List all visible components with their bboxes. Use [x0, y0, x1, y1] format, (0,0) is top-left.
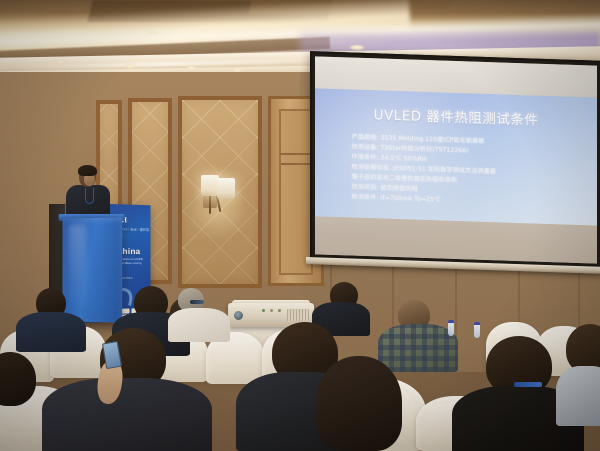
sconce-shade-right: [217, 178, 235, 199]
door-rail: [281, 153, 311, 155]
downlight-icon: [186, 66, 197, 70]
conference-room-photo: UVLED 器件热阻测试条件 产品规格: 3535 Molding 120度IC…: [0, 0, 600, 451]
projection-screen: UVLED 器件热阻测试条件 产品规格: 3535 Molding 120度IC…: [310, 51, 600, 271]
attendee-shoulders-white: [168, 308, 230, 342]
presentation-slide: UVLED 器件热阻测试条件 产品规格: 3535 Molding 120度IC…: [315, 88, 597, 226]
projector-indicator-led: [278, 309, 281, 312]
water-bottle[interactable]: [448, 320, 454, 336]
attendee-head-long-hair: [316, 356, 402, 451]
downlight-icon: [125, 64, 136, 68]
door-rail: [281, 163, 311, 165]
water-bottle[interactable]: [474, 322, 480, 338]
radtech-logo-tagline: 2019 / 亚洲 / 辐射固化: [120, 226, 151, 236]
projector-vent: [287, 309, 309, 321]
downlight-icon: [350, 45, 364, 50]
slide-body: 产品规格: 3535 Molding 120度ICP氮化铝基板 检测设备: T3…: [352, 133, 580, 210]
glasses-icon: [190, 300, 204, 304]
downlight-icon: [55, 60, 66, 64]
attendee-shoulders: [16, 312, 86, 352]
attendee-lanyard: [514, 382, 542, 387]
podium-highlight: [68, 224, 86, 314]
downlight-icon: [148, 31, 157, 34]
speaker-lanyard: [85, 188, 94, 204]
screen-surface: UVLED 器件热阻测试条件 产品规格: 3535 Molding 120度IC…: [315, 56, 597, 263]
door-panel: [279, 109, 313, 275]
projector-power-button[interactable]: [262, 309, 265, 312]
podium: [63, 217, 123, 322]
attendee-shoulders-plaid: [378, 324, 458, 372]
screen-bottom-margin: [315, 217, 597, 264]
attendee-shoulders-front: [42, 378, 212, 451]
projector-indicator-led: [270, 309, 273, 312]
attendee-shoulders-partial: [556, 366, 600, 426]
speaker-hair: [78, 165, 97, 176]
projector-lens-icon: [234, 311, 243, 320]
